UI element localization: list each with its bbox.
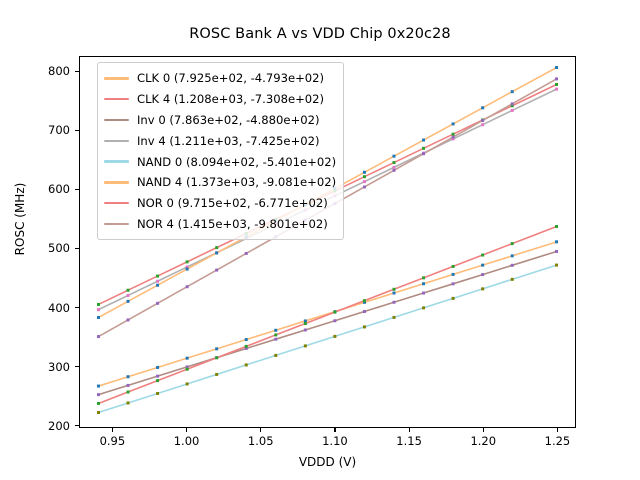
- legend-item[interactable]: NAND 4 (1.373e+03, -9.081e+02): [104, 172, 336, 193]
- data-point-marker: [452, 265, 455, 268]
- data-point-marker: [511, 102, 514, 105]
- data-point-marker: [481, 106, 484, 109]
- page-title: ROSC Bank A vs VDD Chip 0x20c28: [0, 26, 640, 42]
- legend-item-label: NAND 0 (8.094e+02, -5.401e+02): [137, 155, 336, 169]
- data-point-marker: [511, 90, 514, 93]
- data-point-marker: [452, 133, 455, 136]
- legend-color-swatch-icon: [104, 98, 129, 100]
- data-point-marker: [215, 246, 218, 249]
- data-point-marker: [186, 357, 189, 360]
- matplotlib-figure: ROSC Bank A vs VDD Chip 0x20c28 ROSC (MH…: [0, 0, 640, 480]
- data-point-marker: [555, 66, 558, 69]
- data-point-marker: [511, 242, 514, 245]
- data-point-marker: [392, 316, 395, 319]
- data-point-marker: [422, 139, 425, 142]
- x-tick-label: 1.10: [322, 434, 348, 448]
- y-tick-label: 400: [12, 301, 70, 315]
- data-point-marker: [186, 285, 189, 288]
- data-point-marker: [363, 175, 366, 178]
- legend-color-swatch-icon: [104, 77, 129, 79]
- legend-item[interactable]: NAND 0 (8.094e+02, -5.401e+02): [104, 151, 336, 172]
- y-tick-label: 500: [12, 241, 70, 255]
- data-point-marker: [392, 169, 395, 172]
- data-point-marker: [156, 275, 159, 278]
- data-point-marker: [363, 180, 366, 183]
- data-point-marker: [555, 240, 558, 243]
- data-point-marker: [333, 311, 336, 314]
- legend-item-label: CLK 4 (1.208e+03, -7.308e+02): [137, 92, 324, 106]
- data-point-marker: [422, 147, 425, 150]
- data-point-marker: [452, 273, 455, 276]
- data-point-marker: [127, 318, 130, 321]
- data-point-marker: [555, 225, 558, 228]
- legend[interactable]: CLK 0 (7.925e+02, -4.793e+02)CLK 4 (1.20…: [97, 62, 344, 240]
- data-point-marker: [452, 136, 455, 139]
- data-point-marker: [363, 171, 366, 174]
- data-point-marker: [363, 325, 366, 328]
- data-point-marker: [511, 264, 514, 267]
- data-point-marker: [392, 166, 395, 169]
- data-point-marker: [274, 329, 277, 332]
- legend-color-swatch-icon: [104, 181, 129, 183]
- data-point-marker: [304, 322, 307, 325]
- legend-item-label: NAND 4 (1.373e+03, -9.081e+02): [137, 175, 336, 189]
- legend-color-swatch-icon: [104, 223, 129, 225]
- data-point-marker: [97, 308, 100, 311]
- legend-item-label: CLK 0 (7.925e+02, -4.793e+02): [137, 71, 324, 85]
- x-tick-mark: [260, 428, 261, 432]
- data-point-marker: [333, 335, 336, 338]
- data-point-marker: [186, 382, 189, 385]
- data-point-marker: [511, 278, 514, 281]
- data-point-marker: [555, 88, 558, 91]
- data-point-marker: [186, 260, 189, 263]
- x-tick-mark: [409, 428, 410, 432]
- data-point-marker: [481, 273, 484, 276]
- data-point-marker: [274, 333, 277, 336]
- data-point-marker: [156, 302, 159, 305]
- legend-color-swatch-icon: [104, 160, 129, 162]
- data-point-marker: [511, 254, 514, 257]
- x-tick-label: 1.15: [396, 434, 422, 448]
- data-point-marker: [156, 284, 159, 287]
- data-point-marker: [156, 379, 159, 382]
- data-point-marker: [186, 268, 189, 271]
- data-point-marker: [97, 402, 100, 405]
- x-tick-mark: [334, 428, 335, 432]
- data-point-marker: [127, 401, 130, 404]
- data-point-marker: [127, 391, 130, 394]
- data-point-marker: [392, 301, 395, 304]
- data-point-marker: [363, 299, 366, 302]
- x-tick-mark: [112, 428, 113, 432]
- data-point-marker: [215, 373, 218, 376]
- data-point-marker: [97, 385, 100, 388]
- data-point-marker: [481, 287, 484, 290]
- data-point-marker: [215, 356, 218, 359]
- data-point-marker: [186, 368, 189, 371]
- data-point-marker: [555, 250, 558, 253]
- data-point-marker: [511, 109, 514, 112]
- legend-color-swatch-icon: [104, 140, 129, 142]
- data-point-marker: [127, 294, 130, 297]
- x-tick-mark: [557, 428, 558, 432]
- data-point-marker: [127, 375, 130, 378]
- legend-item-label: Inv 0 (7.863e+02, -4.880e+02): [137, 113, 320, 127]
- data-point-marker: [422, 292, 425, 295]
- data-point-marker: [363, 310, 366, 313]
- x-tick-mark: [483, 428, 484, 432]
- y-tick-label: 800: [12, 64, 70, 78]
- legend-item-label: NOR 0 (9.715e+02, -6.771e+02): [137, 196, 328, 210]
- data-point-marker: [452, 282, 455, 285]
- y-tick-label: 600: [12, 182, 70, 196]
- x-axis-label: VDDD (V): [79, 455, 576, 469]
- data-point-marker: [363, 185, 366, 188]
- data-point-marker: [422, 282, 425, 285]
- x-tick-label: 1.00: [174, 434, 200, 448]
- data-point-marker: [274, 338, 277, 341]
- data-point-marker: [156, 366, 159, 369]
- legend-item[interactable]: NOR 0 (9.715e+02, -6.771e+02): [104, 193, 336, 214]
- data-point-marker: [274, 354, 277, 357]
- data-point-marker: [127, 384, 130, 387]
- data-point-marker: [245, 338, 248, 341]
- data-point-marker: [452, 297, 455, 300]
- data-point-marker: [481, 123, 484, 126]
- x-tick-label: 0.95: [100, 434, 126, 448]
- legend-item[interactable]: Inv 4 (1.211e+03, -7.425e+02): [104, 130, 336, 151]
- data-point-marker: [392, 288, 395, 291]
- y-axis-label: ROSC (MHz): [13, 159, 27, 279]
- data-point-marker: [215, 251, 218, 254]
- data-point-marker: [392, 292, 395, 295]
- data-point-marker: [392, 161, 395, 164]
- series-line: [98, 251, 556, 394]
- data-point-marker: [422, 276, 425, 279]
- data-point-marker: [97, 335, 100, 338]
- data-point-marker: [215, 269, 218, 272]
- data-point-marker: [422, 152, 425, 155]
- y-tick-label: 700: [12, 123, 70, 137]
- data-point-marker: [555, 83, 558, 86]
- data-point-marker: [304, 344, 307, 347]
- legend-item[interactable]: NOR 4 (1.415e+03, -9.801e+02): [104, 214, 336, 235]
- legend-color-swatch-icon: [104, 119, 129, 121]
- series-line: [98, 226, 556, 403]
- data-point-marker: [245, 345, 248, 348]
- legend-item[interactable]: Inv 0 (7.863e+02, -4.880e+02): [104, 110, 336, 131]
- data-point-marker: [127, 300, 130, 303]
- data-point-marker: [555, 77, 558, 80]
- data-point-marker: [392, 155, 395, 158]
- data-point-marker: [97, 411, 100, 414]
- data-point-marker: [127, 289, 130, 292]
- data-point-marker: [304, 319, 307, 322]
- data-point-marker: [97, 316, 100, 319]
- data-point-marker: [215, 347, 218, 350]
- data-point-marker: [555, 264, 558, 267]
- data-point-marker: [422, 306, 425, 309]
- x-tick-label: 1.25: [545, 434, 571, 448]
- data-point-marker: [333, 319, 336, 322]
- data-point-marker: [245, 252, 248, 255]
- y-tick-label: 200: [12, 419, 70, 433]
- legend-item-label: Inv 4 (1.211e+03, -7.425e+02): [137, 134, 320, 148]
- data-point-marker: [156, 375, 159, 378]
- legend-color-swatch-icon: [104, 202, 129, 204]
- data-point-marker: [97, 303, 100, 306]
- data-point-marker: [481, 264, 484, 267]
- legend-item[interactable]: CLK 0 (7.925e+02, -4.793e+02): [104, 68, 336, 89]
- data-point-marker: [452, 122, 455, 125]
- series-line: [98, 265, 556, 412]
- data-point-marker: [97, 393, 100, 396]
- data-point-marker: [245, 363, 248, 366]
- legend-item[interactable]: CLK 4 (1.208e+03, -7.308e+02): [104, 89, 336, 110]
- data-point-marker: [481, 254, 484, 257]
- x-tick-mark: [186, 428, 187, 432]
- y-tick-label: 300: [12, 360, 70, 374]
- data-point-marker: [304, 328, 307, 331]
- legend-item-label: NOR 4 (1.415e+03, -9.801e+02): [137, 217, 328, 231]
- x-tick-label: 1.05: [248, 434, 274, 448]
- data-point-marker: [481, 119, 484, 122]
- data-point-marker: [156, 280, 159, 283]
- series-line: [98, 242, 556, 386]
- data-point-marker: [156, 392, 159, 395]
- x-tick-label: 1.20: [470, 434, 496, 448]
